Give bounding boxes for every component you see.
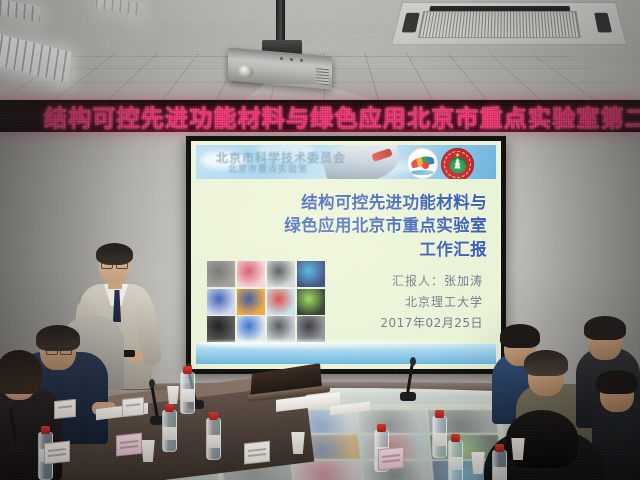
slide-thumbnail-orange-afm-surface bbox=[237, 289, 265, 315]
name-placard bbox=[244, 441, 270, 465]
water-bottle bbox=[492, 450, 507, 480]
projector-indicator-led bbox=[280, 57, 283, 60]
projector-indicator-led bbox=[300, 59, 303, 62]
slide-thumbnail-red-nanoparticle-array bbox=[237, 261, 265, 287]
slide-thumbnail-molecular-model bbox=[237, 316, 265, 342]
slide-thumbnail-layered-lattice bbox=[267, 316, 295, 342]
slide-thumbnail-green-spectra-map bbox=[297, 289, 325, 315]
slide-title-line-1: 结构可控先进功能材料与 bbox=[284, 191, 487, 214]
microphone-head bbox=[7, 399, 13, 408]
slide-title: 结构可控先进功能材料与 绿色应用北京市重点实验室 工作汇报 bbox=[284, 191, 487, 261]
water-bottle bbox=[448, 440, 463, 480]
slide-thumbnail-blue-fluorescence bbox=[297, 261, 325, 287]
projection-screen-frame: 北京市科学技术委员会 北京市重点实验室 ★ 结构可控先进功能材料与 绿色应用北京… bbox=[186, 136, 506, 374]
projector-vent bbox=[316, 67, 329, 85]
slide-header-subtitle-faint: 北京市重点实验室 bbox=[228, 162, 308, 175]
projector-indicator-led bbox=[290, 58, 293, 61]
slide-subtitle-block: 汇报人：张加涛 北京理工大学 2017年02月25日 bbox=[380, 271, 483, 334]
slide-thumbnail-nanorod-columns bbox=[267, 261, 295, 287]
slide-title-line-2: 绿色应用北京市重点实验室 bbox=[284, 214, 487, 237]
ceiling-light-fixture bbox=[96, 0, 142, 16]
slide-thumbnail-nanofiber-network bbox=[297, 316, 325, 342]
water-bottle bbox=[162, 410, 177, 452]
slide-thumbnail-grid bbox=[207, 261, 325, 342]
ac-side-vent bbox=[402, 13, 420, 33]
microphone-head bbox=[410, 357, 416, 366]
glasses-icon bbox=[46, 348, 72, 353]
slide-title-line-3: 工作汇报 bbox=[284, 238, 487, 261]
slide-date: 2017年02月25日 bbox=[380, 313, 483, 334]
slide-institution: 北京理工大学 bbox=[380, 292, 483, 313]
water-bottle bbox=[432, 416, 447, 458]
ac-side-vent bbox=[594, 13, 612, 33]
projector-lens bbox=[238, 64, 253, 78]
name-placard bbox=[378, 447, 404, 471]
slide-header-band: 北京市科学技术委员会 北京市重点实验室 ★ bbox=[196, 145, 496, 179]
slide-thumbnail-blue-triangle-particle bbox=[207, 289, 235, 315]
name-placard bbox=[116, 433, 142, 457]
name-placard bbox=[54, 399, 76, 419]
university-emblem-icon: ★ bbox=[441, 148, 474, 179]
water-bottle bbox=[206, 418, 221, 460]
name-placard bbox=[44, 441, 70, 465]
glasses-icon bbox=[101, 261, 128, 267]
slide-thumbnail-red-core-shell bbox=[267, 289, 295, 315]
water-bottle bbox=[180, 372, 195, 414]
projector-mount-pole bbox=[276, 0, 285, 44]
ceiling-light-fixture bbox=[0, 0, 40, 23]
presentation-slide: 北京市科学技术委员会 北京市重点实验室 ★ 结构可控先进功能材料与 绿色应用北京… bbox=[191, 141, 501, 369]
committee-emblem-icon bbox=[407, 148, 438, 179]
slide-thumbnail-tem-nanowire-dark bbox=[207, 316, 235, 342]
ceiling-ac-unit bbox=[391, 2, 627, 45]
ac-grille bbox=[418, 11, 581, 38]
slide-thumbnail-sem-gray-texture bbox=[207, 261, 235, 287]
name-placard bbox=[122, 397, 144, 417]
slide-presenter: 汇报人：张加涛 bbox=[380, 271, 483, 292]
microphone-head bbox=[149, 379, 155, 388]
conference-room-photo: 结构可控先进功能材料与绿色应用北京市重点实验室第二届学术委员会会 北京市科学技术… bbox=[0, 0, 640, 480]
